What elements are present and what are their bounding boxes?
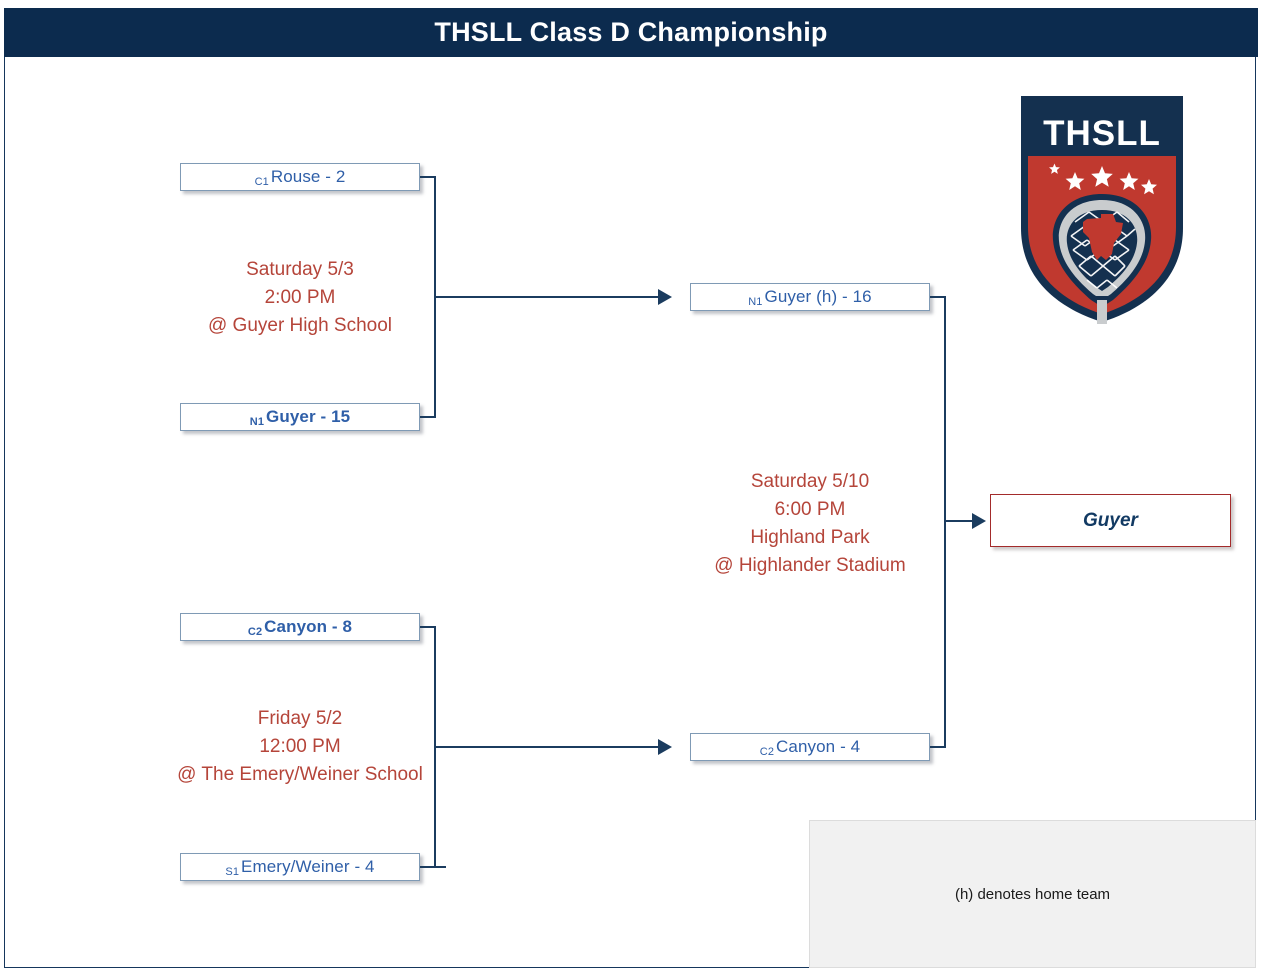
game-info-line: Highland Park (680, 524, 940, 552)
team-name-score: Canyon - 4 (776, 737, 860, 756)
arrow-final-to-champion (972, 513, 986, 529)
arrow-r1g2-to-final (658, 739, 672, 755)
game-info-line: 12:00 PM (140, 733, 460, 761)
legend-note: (h) denotes home team (955, 886, 1110, 903)
seed-label: N1 (748, 296, 762, 308)
seed-label: C2 (248, 626, 262, 638)
connector-r1g1-to-final (434, 296, 658, 298)
team-label-guyer: N1Guyer - 15 (250, 407, 350, 427)
champion-box[interactable]: Guyer (990, 494, 1231, 547)
game-info-final: Saturday 5/10 6:00 PM Highland Park @ Hi… (680, 468, 940, 580)
team-label-guyer-final: N1Guyer (h) - 16 (748, 287, 871, 307)
connector-final-bottom-stub (930, 746, 946, 748)
game-info-line: 6:00 PM (680, 496, 940, 524)
game-info-line: Saturday 5/10 (680, 468, 940, 496)
svg-text:THSLL: THSLL (1043, 114, 1161, 153)
page-title-bar: THSLL Class D Championship (4, 8, 1258, 57)
team-box-r1g1-bottom[interactable]: N1Guyer - 15 (180, 403, 420, 431)
team-label-canyon: C2Canyon - 8 (248, 617, 352, 637)
team-name-score: Rouse - 2 (271, 167, 346, 186)
team-box-r1g2-bottom[interactable]: S1Emery/Weiner - 4 (180, 853, 420, 881)
seed-label: S1 (225, 866, 239, 878)
connector-final-to-champion (944, 520, 974, 522)
team-name-score: Canyon - 8 (264, 617, 352, 636)
team-label-canyon-final: C2Canyon - 4 (760, 737, 860, 757)
game-info-line: @ The Emery/Weiner School (140, 761, 460, 789)
seed-label: C1 (255, 176, 269, 188)
game-info-line: 2:00 PM (180, 284, 420, 312)
team-label-rouse: C1Rouse - 2 (255, 167, 346, 187)
game-info-line: @ Highlander Stadium (680, 552, 940, 580)
team-label-emery-weiner: S1Emery/Weiner - 4 (225, 857, 374, 877)
connector-r1g2-to-final (434, 746, 658, 748)
game-info-line: @ Guyer High School (180, 312, 420, 340)
team-name-score: Emery/Weiner - 4 (241, 857, 375, 876)
champion-label: Guyer (1083, 510, 1138, 532)
team-name-score: Guyer (h) - 16 (765, 287, 872, 306)
team-box-final-top[interactable]: N1Guyer (h) - 16 (690, 283, 930, 311)
bracket-page: THSLL Class D Championship THSLL (0, 0, 1262, 972)
game-info-r1g2: Friday 5/2 12:00 PM @ The Emery/Weiner S… (140, 705, 460, 789)
team-box-final-bottom[interactable]: C2Canyon - 4 (690, 733, 930, 761)
connector-r1g2-bottom-stub (420, 866, 446, 868)
connector-r1g1-bottom-stub (420, 416, 436, 418)
seed-label: C2 (760, 746, 774, 758)
game-info-r1g1: Saturday 5/3 2:00 PM @ Guyer High School (180, 256, 420, 340)
thsll-shield-logo: THSLL (1013, 88, 1191, 328)
legend-box: (h) denotes home team (809, 820, 1256, 968)
game-info-line: Friday 5/2 (140, 705, 460, 733)
team-box-r1g1-top[interactable]: C1Rouse - 2 (180, 163, 420, 191)
arrow-r1g1-to-final (658, 289, 672, 305)
team-box-r1g2-top[interactable]: C2Canyon - 8 (180, 613, 420, 641)
page-title: THSLL Class D Championship (434, 17, 827, 48)
team-name-score: Guyer - 15 (266, 407, 350, 426)
seed-label: N1 (250, 416, 264, 428)
game-info-line: Saturday 5/3 (180, 256, 420, 284)
